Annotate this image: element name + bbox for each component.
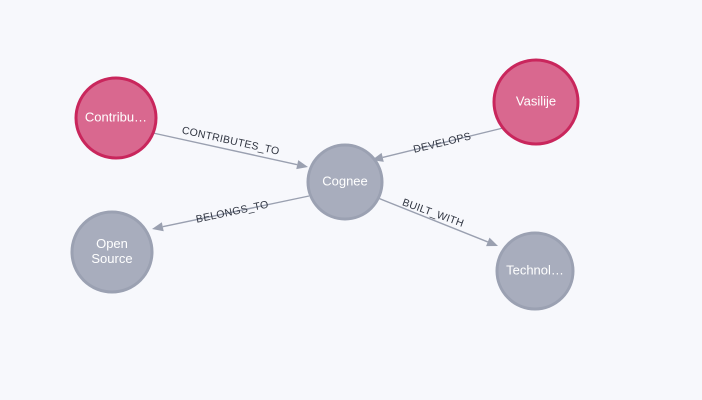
node-cognee-label: Cognee [322,173,368,188]
node-open-source[interactable]: OpenSource [72,212,152,292]
edge-arrowhead-icon [152,222,164,231]
node-contributor-label: Contribu… [85,109,147,124]
edge-belongs-to-label: BELONGS_TO [195,199,270,226]
edge-contributes-to-label: CONTRIBUTES_TO [181,124,281,157]
node-vasilije-label: Vasilije [516,93,556,108]
edge-arrowhead-icon [296,160,308,169]
edge-line [378,198,488,242]
node-open-source-label: Source [91,251,132,266]
nodes-layer: Contribu…VasilijeCogneeOpenSourceTechnol… [72,60,578,309]
edge-built-with-label: BUILT_WITH [401,196,466,229]
graph-visualization[interactable]: CONTRIBUTES_TODEVELOPSBELONGS_TOBUILT_WI… [0,0,702,400]
node-open-source-label: Open [96,236,128,251]
node-technology[interactable]: Technol… [497,233,573,309]
node-contributor[interactable]: Contribu… [76,78,156,158]
node-technology-label: Technol… [506,262,564,277]
edge-arrowhead-icon [486,238,498,247]
edge-built-with[interactable] [378,198,498,246]
node-vasilije[interactable]: Vasilije [494,60,578,144]
edge-develops-label: DEVELOPS [412,130,472,155]
graph-canvas[interactable]: CONTRIBUTES_TODEVELOPSBELONGS_TOBUILT_WI… [0,0,702,400]
node-cognee[interactable]: Cognee [308,145,382,219]
